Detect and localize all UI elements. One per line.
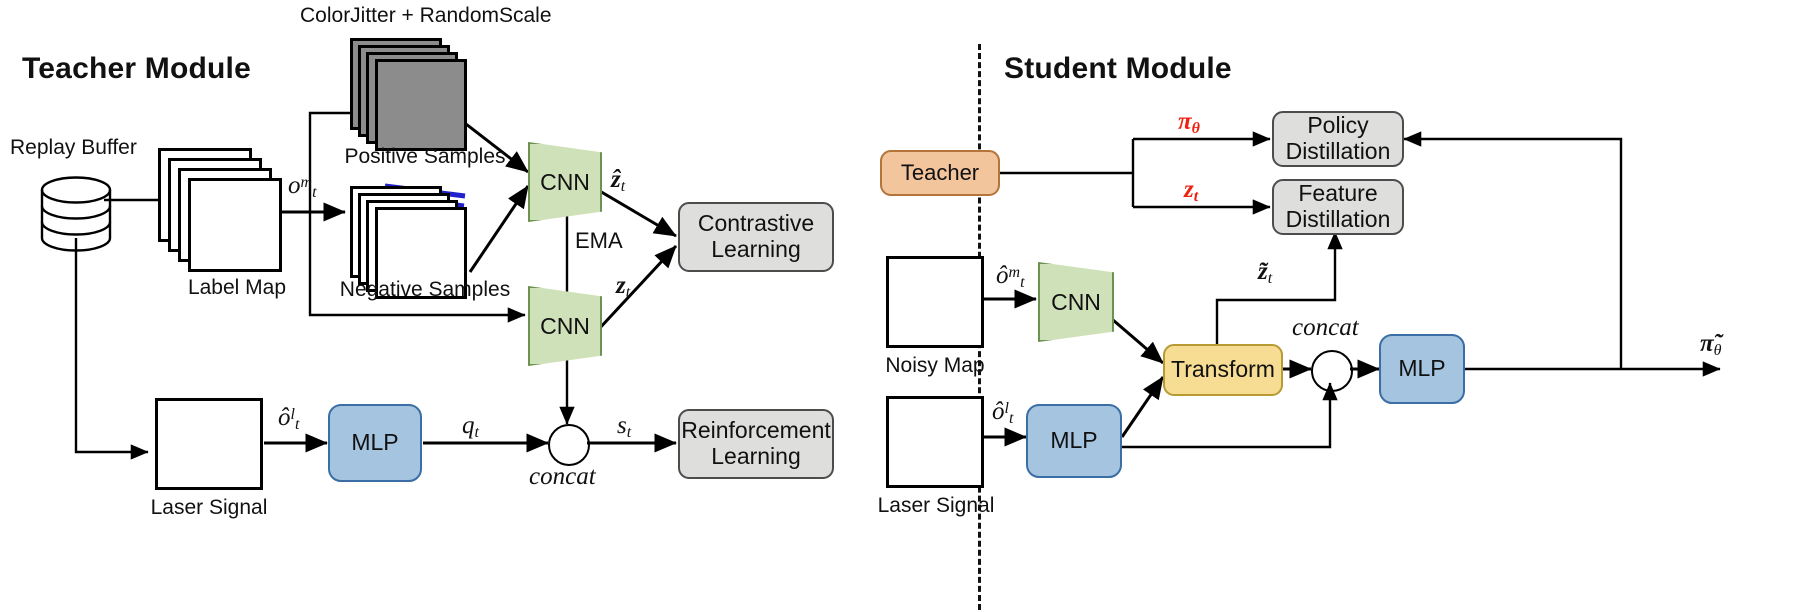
obs-map-symbol: o (288, 172, 301, 199)
student-obs-map-superscript: m (1009, 264, 1021, 281)
q-symbol: q (462, 412, 475, 439)
z-tilde-symbol: z̃ (1258, 258, 1268, 285)
reinforcement-learning-line1: Reinforcement (681, 418, 831, 444)
edge-label-z: zt (616, 272, 630, 302)
edge-label-pi-theta: πθ (1178, 108, 1200, 138)
teacher-mlp-label: MLP (351, 430, 398, 456)
teacher-cnn-bottom-label: CNN (540, 313, 590, 340)
student-cnn[interactable]: CNN (1038, 262, 1114, 342)
student-teacher-label: Teacher (901, 161, 979, 186)
teacher-laser-signal-caption: Laser Signal (146, 496, 272, 520)
z-subscript: t (626, 284, 630, 301)
edge-label-s: st (617, 412, 631, 442)
label-map-caption: Label Map (162, 276, 312, 300)
teacher-cnn-top[interactable]: CNN (528, 142, 602, 222)
policy-distillation-line2: Distillation (1286, 139, 1391, 165)
pi-theta-symbol: π (1178, 108, 1192, 135)
policy-distillation-line1: Policy (1307, 113, 1368, 139)
student-obs-map-symbol: ô (996, 262, 1009, 289)
ema-label: EMA (575, 228, 623, 254)
contrastive-learning-line2: Learning (711, 237, 801, 263)
edge-label-zhat: ẑt (611, 166, 625, 196)
teacher-mlp[interactable]: MLP (328, 404, 422, 482)
reinforcement-learning-box[interactable]: Reinforcement Learning (678, 409, 834, 479)
s-subscript: t (627, 424, 631, 441)
teacher-cnn-bottom[interactable]: CNN (528, 286, 602, 366)
teacher-module-title: Teacher Module (22, 52, 251, 86)
student-concat-label: concat (1292, 314, 1359, 342)
replay-buffer-label: Replay Buffer (10, 136, 137, 160)
positive-samples-caption: Positive Samples (340, 145, 510, 169)
edge-label-obs-laser-student: ôlt (992, 398, 1013, 428)
student-obs-laser-symbol: ô (992, 398, 1005, 425)
zt-subscript: t (1194, 188, 1198, 205)
student-concat-node (1311, 350, 1353, 392)
student-obs-laser-subscript: t (1009, 410, 1013, 427)
teacher-concat-label: concat (529, 463, 596, 491)
edge-label-obs-map: omt (288, 172, 317, 202)
student-laser-signal-image (886, 396, 984, 488)
zhat-symbol: ẑ (611, 166, 621, 193)
obs-map-superscript: m (301, 174, 313, 191)
pi-output-symbol: π̃ (1700, 330, 1714, 357)
edge-label-pi-output: π̃θ (1700, 330, 1722, 360)
obs-laser-symbol: ô (278, 404, 291, 431)
contrastive-learning-box[interactable]: Contrastive Learning (678, 202, 834, 272)
zt-symbol: z (1184, 176, 1194, 203)
feature-distillation-box[interactable]: Feature Distillation (1272, 179, 1404, 235)
student-laser-signal-caption: Laser Signal (874, 494, 998, 518)
z-symbol: z (616, 272, 626, 299)
feature-distillation-line2: Distillation (1286, 207, 1391, 233)
z-tilde-subscript: t (1268, 270, 1272, 287)
replay-buffer-cylinder (42, 178, 110, 251)
label-map-image-1 (188, 178, 282, 272)
feature-distillation-line1: Feature (1298, 181, 1377, 207)
contrastive-learning-line1: Contrastive (698, 211, 814, 237)
edge-label-obs-map-student: ômt (996, 262, 1025, 292)
noisy-map-image (886, 256, 984, 348)
diagram-canvas: Teacher Module Replay Buffer Label Map o… (0, 0, 1796, 612)
teacher-cnn-top-label: CNN (540, 169, 590, 196)
student-mlp-left[interactable]: MLP (1026, 404, 1122, 478)
positive-sample-image-1 (375, 59, 467, 151)
student-mlp-left-label: MLP (1050, 428, 1097, 454)
student-teacher-box[interactable]: Teacher (880, 150, 1000, 196)
edge-label-obs-laser-teacher: ôlt (278, 404, 299, 434)
transform-box[interactable]: Transform (1163, 344, 1283, 396)
transform-label: Transform (1171, 357, 1275, 383)
edge-label-q: qt (462, 412, 479, 442)
obs-map-subscript: t (312, 184, 316, 201)
edge-label-zt-red: zt (1184, 176, 1198, 206)
student-module-title: Student Module (1004, 52, 1232, 86)
teacher-concat-node (548, 424, 590, 466)
q-subscript: t (475, 424, 479, 441)
obs-laser-subscript: t (295, 416, 299, 433)
edge-label-z-tilde: z̃t (1258, 258, 1272, 288)
negative-samples-caption: Negative Samples (338, 278, 512, 302)
pi-output-subscript: θ (1714, 342, 1722, 359)
teacher-laser-signal-image (155, 398, 263, 490)
student-mlp-right[interactable]: MLP (1379, 334, 1465, 404)
reinforcement-learning-line2: Learning (711, 444, 801, 470)
policy-distillation-box[interactable]: Policy Distillation (1272, 111, 1404, 167)
student-obs-map-subscript: t (1020, 274, 1024, 291)
augmentation-caption: ColorJitter + RandomScale (300, 4, 552, 28)
s-symbol: s (617, 412, 627, 439)
zhat-subscript: t (621, 178, 625, 195)
student-cnn-label: CNN (1051, 289, 1101, 316)
student-mlp-right-label: MLP (1398, 356, 1445, 382)
pi-theta-subscript: θ (1192, 120, 1200, 137)
noisy-map-caption: Noisy Map (876, 354, 994, 378)
